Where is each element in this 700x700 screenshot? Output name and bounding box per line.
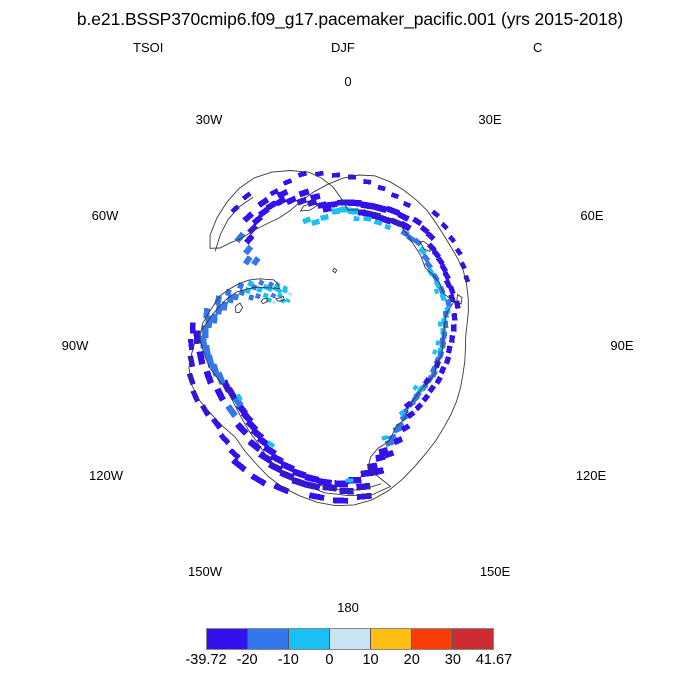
- colorbar: [206, 628, 494, 650]
- data-cell: [320, 214, 329, 221]
- data-cell: [285, 196, 296, 205]
- data-cell: [449, 335, 455, 343]
- data-cell: [221, 301, 228, 311]
- coastline-berkner-island: [301, 203, 318, 211]
- data-cell: [310, 193, 321, 201]
- polar-map[interactable]: [0, 60, 700, 605]
- data-cell: [435, 376, 443, 385]
- data-cell: [287, 291, 293, 296]
- colorbar-tick-4: 10: [362, 652, 378, 668]
- data-cell: [331, 208, 340, 215]
- data-cell: [397, 212, 409, 222]
- data-cell: [377, 185, 386, 191]
- data-cell: [188, 355, 196, 367]
- data-cell: [444, 356, 451, 365]
- colorbar-swatch-6: [453, 629, 493, 649]
- data-cell: [270, 293, 276, 299]
- colorbar-tick-3: 0: [325, 652, 333, 668]
- colorbar-swatch-3: [330, 629, 371, 649]
- data-cell: [243, 255, 253, 265]
- data-cell: [283, 178, 293, 186]
- data-cell: [214, 295, 222, 305]
- season-label: DJF: [331, 40, 355, 55]
- data-cell: [332, 173, 340, 178]
- data-cell: [333, 497, 348, 504]
- data-cell: [455, 248, 463, 257]
- data-cell: [190, 323, 195, 334]
- colorbar-swatch-0: [207, 629, 248, 649]
- data-cell: [255, 293, 261, 299]
- data-cell: [228, 448, 240, 460]
- data-cell: [244, 287, 251, 294]
- data-cell: [258, 279, 265, 286]
- coastline-south-georgia: [333, 268, 337, 273]
- data-cell: [436, 340, 441, 345]
- data-cell: [412, 217, 422, 226]
- colorbar-swatch-5: [412, 629, 453, 649]
- data-cell: [440, 222, 449, 231]
- colorbar-tick-6: 30: [445, 652, 461, 668]
- coastline-layer: [189, 171, 469, 506]
- data-cell: [431, 210, 440, 218]
- colorbar-tick-2: -10: [278, 652, 299, 668]
- data-cell: [384, 224, 391, 230]
- data-cell: [348, 208, 359, 215]
- data-cell: [231, 458, 247, 472]
- data-cell: [439, 366, 447, 375]
- colorbar-swatch-2: [289, 629, 330, 649]
- variable-label: TSOI: [133, 40, 163, 55]
- data-cell: [200, 404, 210, 417]
- data-cell: [214, 388, 226, 402]
- coastline-alexander-island: [236, 303, 243, 313]
- data-cell: [375, 453, 386, 462]
- colorbar-tick-7: 41.67: [476, 652, 512, 668]
- data-cell: [248, 294, 254, 301]
- colorbar-swatch-1: [248, 629, 289, 649]
- data-cell: [432, 349, 437, 355]
- data-cell: [250, 474, 266, 487]
- data-cell: [363, 179, 371, 185]
- coastline-antarctica: [189, 171, 469, 506]
- data-cell: [448, 235, 456, 244]
- data-cell: [243, 245, 253, 256]
- colorbar-tick-5: 20: [404, 652, 420, 668]
- data-cell: [361, 469, 375, 477]
- data-cell: [230, 204, 239, 213]
- climate-map-figure: b.e21.BSSP370cmip6.f09_g17.pacemaker_pac…: [0, 0, 700, 700]
- data-cell: [354, 216, 360, 221]
- data-cell: [386, 206, 400, 216]
- data-cell: [361, 201, 375, 209]
- data-cell: [311, 219, 320, 226]
- data-cell: [285, 298, 291, 303]
- data-cell: [357, 493, 372, 500]
- data-cell: [443, 321, 449, 328]
- data-cell: [348, 199, 361, 206]
- data-cell: [421, 394, 430, 403]
- page-title: b.e21.BSSP370cmip6.f09_g17.pacemaker_pac…: [0, 8, 700, 30]
- data-cell: [391, 192, 400, 199]
- data-cell: [451, 313, 457, 321]
- subtitle-row: TSOI DJF C: [0, 40, 700, 58]
- colorbar-tick-labels: -39.72-20-10010203041.67: [206, 652, 494, 672]
- colorbar-swatch-4: [371, 629, 412, 649]
- data-cell: [373, 203, 387, 213]
- data-cell: [251, 256, 260, 266]
- units-label: C: [533, 40, 542, 55]
- data-cell-layer: [187, 171, 470, 504]
- data-cell: [414, 402, 423, 411]
- data-cell: [403, 201, 412, 208]
- colorbar-tick-1: -20: [237, 652, 258, 668]
- data-cell: [381, 435, 388, 441]
- data-cell: [451, 324, 456, 332]
- data-cell: [438, 321, 442, 326]
- data-cell: [272, 301, 276, 305]
- data-cell: [428, 384, 437, 393]
- data-cell: [345, 478, 353, 482]
- colorbar-tick-0: -39.72: [185, 652, 226, 668]
- data-cell: [302, 216, 311, 224]
- data-cell: [446, 346, 453, 354]
- data-cell: [441, 331, 447, 338]
- data-cell: [273, 483, 289, 494]
- data-cell: [219, 433, 231, 445]
